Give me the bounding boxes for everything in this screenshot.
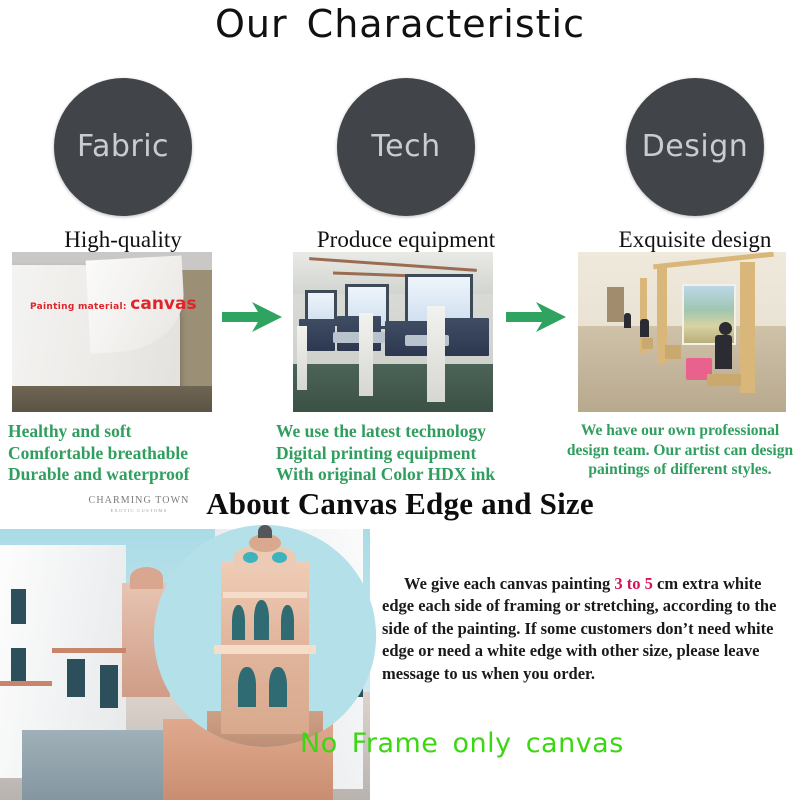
tower-arch — [232, 605, 245, 641]
caption-line: Healthy and soft — [8, 421, 189, 443]
window — [11, 589, 26, 624]
photo-design-studio — [578, 252, 786, 412]
paragraph-highlight: 3 to 5 — [614, 574, 653, 593]
circular-detail-inset — [154, 525, 376, 747]
caption-line: design team. Our artist can design — [566, 441, 794, 461]
brand-watermark: CHARMING TOWN EXOTIC CUSTOMS — [80, 495, 198, 513]
infographic-page: Our Characteristic Fabric High-quality T… — [0, 0, 800, 800]
tower-cornice — [214, 645, 316, 654]
caption-block-tech: We use the latest technology Digital pri… — [276, 421, 495, 486]
photo-bottom-shadow — [12, 386, 212, 412]
roof-tiles — [0, 681, 52, 686]
caption-line: paintings of different styles. — [566, 460, 794, 480]
arrow-right-icon-2 — [506, 300, 568, 339]
photo-printing-equipment — [293, 252, 493, 412]
window — [100, 665, 119, 708]
machine-column — [427, 306, 445, 402]
feature-caption: High-quality — [43, 227, 203, 253]
feature-caption: Exquisite design — [600, 227, 790, 253]
artist-figure — [715, 335, 732, 369]
stool — [665, 345, 681, 359]
feature-caption: Produce equipment — [311, 227, 501, 253]
window — [67, 659, 86, 697]
arrow-right-icon — [222, 300, 284, 334]
wood-post — [740, 262, 755, 393]
teal-ornament — [243, 552, 259, 563]
caption-line: We use the latest technology — [276, 421, 495, 443]
circle-badge-design: Design — [626, 78, 764, 216]
machine-column — [297, 326, 307, 390]
circle-badge-tech: Tech — [337, 78, 475, 216]
overlay-highlight: canvas — [130, 294, 196, 314]
feature-circles-row: Fabric High-quality Tech Produce equipme… — [0, 78, 800, 238]
paragraph-part1: We give each canvas painting — [404, 574, 614, 593]
photo-canvas-material: Painting material: canvas — [12, 252, 212, 412]
canvas-material-overlay: Painting material: canvas — [30, 294, 197, 314]
artist-figure — [640, 319, 649, 337]
tower-finial — [258, 525, 271, 538]
artist-figure — [624, 313, 631, 328]
feature-item-tech: Tech Produce equipment — [311, 78, 501, 253]
machine-column — [359, 313, 373, 396]
watermark-tagline: EXOTIC CUSTOMS — [80, 508, 198, 513]
caption-line: Comfortable breathable — [8, 443, 189, 465]
tower-arch — [238, 667, 256, 707]
tower-arch — [254, 600, 270, 640]
window — [11, 648, 26, 683]
caption-line: With original Color HDX ink — [276, 464, 495, 486]
floor — [293, 364, 493, 412]
no-frame-note: No Frame only canvas — [300, 728, 624, 759]
watermark-brand-name: CHARMING TOWN — [80, 495, 198, 506]
roof-tiles — [52, 648, 126, 653]
feature-item-fabric: Fabric High-quality — [43, 78, 203, 253]
edge-size-paragraph: We give each canvas painting 3 to 5 cm e… — [382, 573, 794, 685]
doorway — [607, 287, 624, 322]
caption-line: Durable and waterproof — [8, 464, 189, 486]
feature-item-design: Design Exquisite design — [600, 78, 790, 253]
tower-arch — [281, 605, 294, 641]
circle-label: Fabric — [77, 132, 169, 162]
stool — [642, 338, 653, 349]
caption-line: Digital printing equipment — [276, 443, 495, 465]
worktable — [707, 374, 741, 386]
tower-cornice — [223, 592, 307, 599]
overlay-label: Painting material: — [30, 302, 127, 312]
arrow-right-icon-1 — [222, 300, 284, 339]
teal-ornament — [272, 552, 288, 563]
caption-line: We have our own professional — [566, 421, 794, 441]
circle-label: Design — [642, 132, 749, 162]
circle-badge-fabric: Fabric — [54, 78, 192, 216]
caption-block-fabric: Healthy and soft Comfortable breathable … — [8, 421, 189, 486]
circle-label: Tech — [371, 132, 440, 162]
page-title: Our Characteristic — [0, 2, 800, 46]
caption-block-design: We have our own professional design team… — [566, 421, 794, 480]
tower-arch — [269, 667, 287, 707]
arrow-right-icon — [506, 300, 568, 334]
